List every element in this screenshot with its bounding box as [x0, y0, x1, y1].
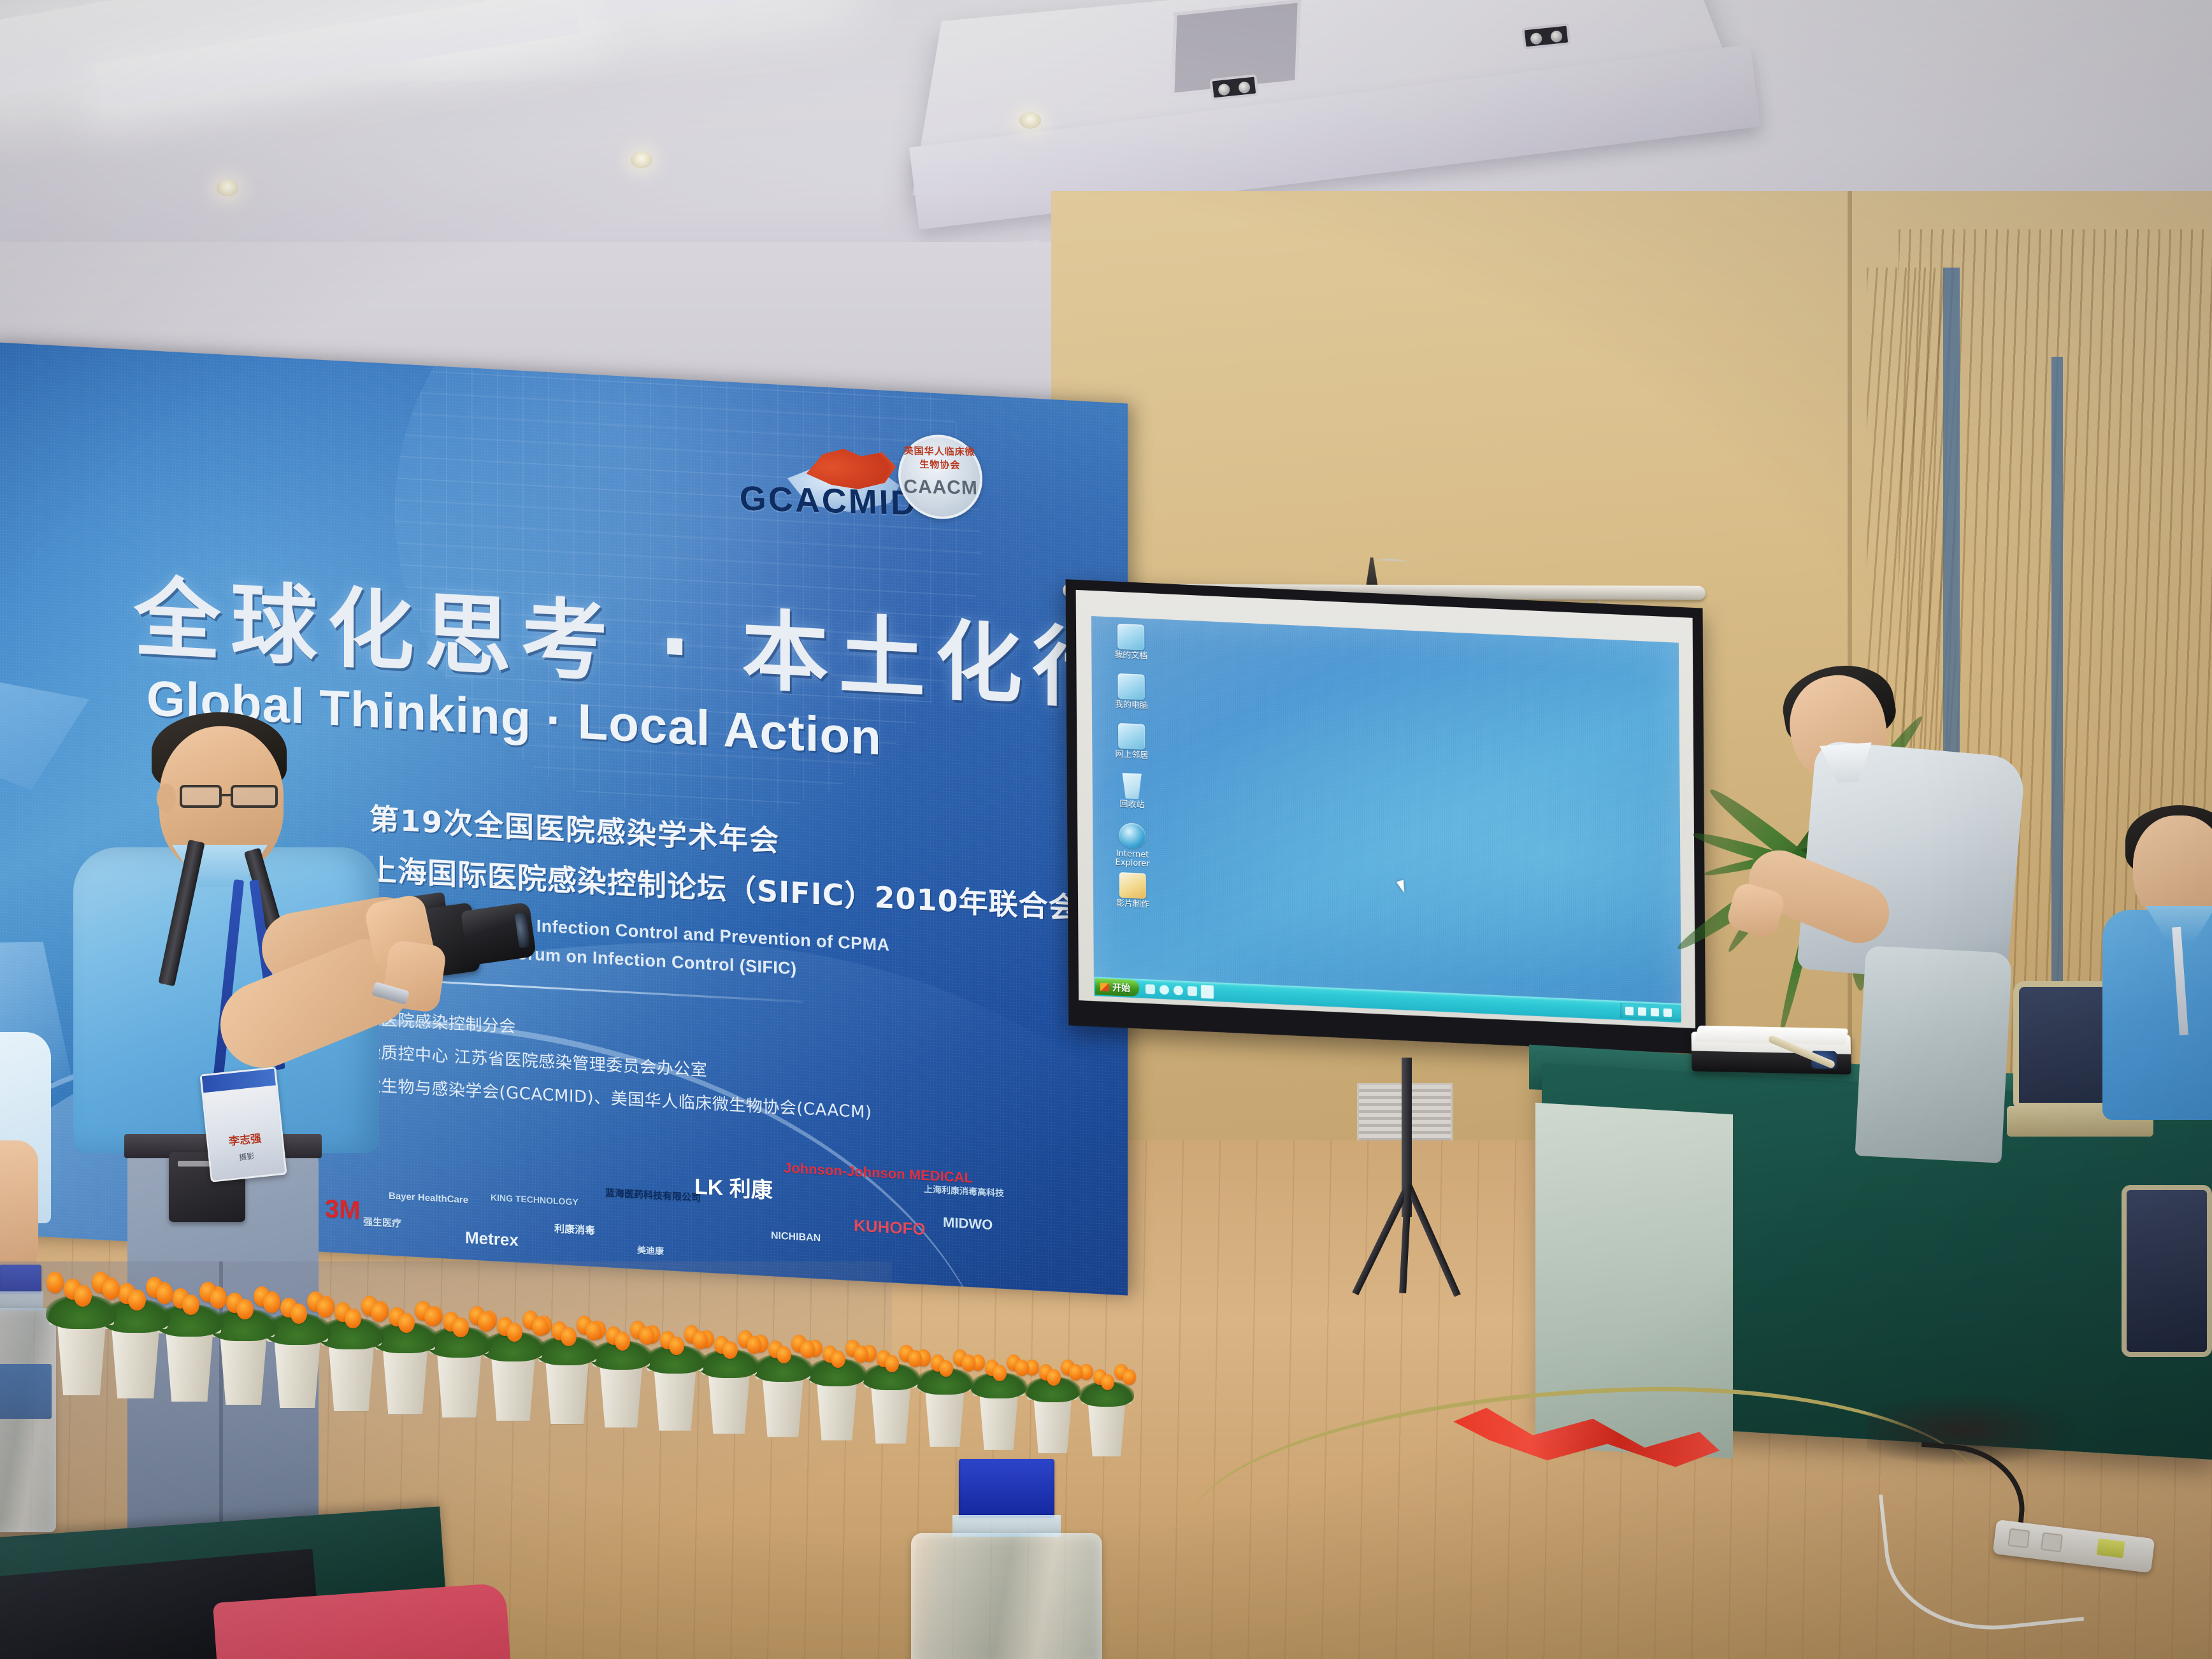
flower-icon — [693, 1331, 708, 1349]
pot-body — [974, 1392, 1023, 1450]
flower-icon — [156, 1283, 173, 1304]
person-seated — [2096, 815, 2212, 1147]
antivirus-icon[interactable] — [1663, 1008, 1672, 1017]
flower-icon — [478, 1312, 494, 1331]
pot-body — [1029, 1396, 1077, 1453]
flower-pot — [649, 1327, 701, 1430]
conference-hall-photo: GCACMID 美国华人临床微生物协会 CAACM 全球化思考 · 本土化行动 … — [0, 0, 2212, 1659]
movie-maker-icon — [1119, 872, 1146, 899]
flower-pot — [51, 1274, 112, 1395]
marigold-flowers — [861, 1343, 921, 1376]
ie-icon[interactable] — [1174, 985, 1183, 995]
flower-pot — [431, 1308, 487, 1418]
marigold-flowers — [698, 1328, 761, 1363]
marigold-flowers — [915, 1347, 974, 1380]
show-desktop-icon[interactable] — [1145, 984, 1155, 994]
projection-screen: 我的文档我的电脑网上邻居回收站Internet Explorer影片制作 开始 — [1065, 540, 1706, 1098]
flower-icon — [908, 1350, 923, 1367]
projector-noise — [1091, 616, 1681, 1023]
flower-icon — [345, 1309, 361, 1328]
flower-icon — [747, 1336, 762, 1354]
flower-pot — [1029, 1361, 1077, 1453]
flower-icon — [424, 1307, 441, 1327]
torso — [2102, 910, 2212, 1120]
sponsor-logo: 上海利康消毒高科技 — [924, 1182, 1004, 1200]
flower-icon — [291, 1303, 307, 1324]
flower-icon — [561, 1327, 577, 1346]
pot-body — [485, 1354, 541, 1421]
flower-icon — [263, 1293, 280, 1313]
glasses-icon — [180, 785, 287, 810]
flower-icon — [639, 1326, 654, 1345]
pot-body — [703, 1371, 755, 1434]
pot-body — [866, 1383, 916, 1443]
caacm-logo-text: CAACM — [901, 476, 980, 499]
flower-icon — [854, 1346, 868, 1363]
bottle-body — [911, 1533, 1102, 1659]
taskbar-window-button[interactable] — [1201, 984, 1214, 998]
bottle-cap — [959, 1459, 1054, 1518]
badge-name: 李志强 — [208, 1127, 282, 1151]
ear — [157, 784, 176, 813]
hand-right — [381, 939, 447, 1014]
marigold-flowers — [1079, 1362, 1135, 1393]
caacm-ring-text: 美国华人临床微生物协会 — [900, 443, 979, 471]
flower-icon — [722, 1341, 738, 1359]
speaker-cabinet — [2122, 1185, 2212, 1357]
pot-body — [105, 1325, 166, 1398]
flower-pot — [540, 1318, 594, 1424]
flower-icon — [993, 1365, 1007, 1381]
desktop-icon-my-computer[interactable]: 我的电脑 — [1101, 673, 1162, 712]
ime-icon[interactable] — [1625, 1007, 1634, 1016]
flower-icon — [1069, 1364, 1083, 1381]
flower-icon — [885, 1355, 900, 1372]
marigold-flowers — [970, 1353, 1028, 1384]
flower-icon — [128, 1289, 145, 1311]
pot-body — [594, 1362, 648, 1427]
desktop-icon-movie-maker[interactable]: 影片制作 — [1102, 872, 1163, 910]
volume-icon[interactable] — [1651, 1007, 1659, 1016]
network-icon[interactable] — [1638, 1007, 1646, 1016]
flower-pot — [866, 1347, 916, 1444]
marigold-flowers — [1024, 1358, 1081, 1389]
network-neighborhood-icon — [1118, 723, 1145, 750]
person-technician — [1771, 675, 2039, 1160]
flower-pot — [920, 1351, 969, 1447]
flower-icon — [47, 1272, 64, 1293]
flower-pot — [703, 1332, 755, 1434]
flower-icon — [831, 1351, 845, 1368]
desktop-icon-internet-explorer[interactable]: Internet Explorer — [1102, 822, 1163, 870]
flower-icon — [585, 1321, 601, 1340]
sponsor-logo: LK 利康 — [694, 1169, 773, 1205]
flower-icon — [1101, 1374, 1114, 1390]
pot-body — [1083, 1400, 1130, 1456]
power-switch-icon[interactable] — [2097, 1539, 2125, 1558]
conference-badge: 李志强 摄影 — [199, 1066, 287, 1182]
pot-body — [160, 1328, 220, 1402]
flower-icon — [102, 1279, 120, 1300]
sponsor-logo: 蓝海医药科技有限公司 — [605, 1186, 701, 1204]
flower-icon — [669, 1337, 684, 1355]
flower-pot — [812, 1342, 863, 1440]
socket-icon — [2041, 1532, 2063, 1553]
flower-icon — [210, 1288, 227, 1309]
arm — [0, 1140, 38, 1268]
downlight-icon — [1019, 112, 1041, 129]
pot-body — [322, 1341, 380, 1411]
my-computer-icon — [1118, 673, 1145, 700]
screen-surface: 我的文档我的电脑网上邻居回收站Internet Explorer影片制作 开始 — [1076, 590, 1695, 1028]
pot-body — [920, 1388, 969, 1447]
windows-flag-icon — [1100, 982, 1109, 991]
flower-icon — [236, 1299, 254, 1319]
internet-explorer-icon — [1119, 822, 1145, 849]
flower-icon — [506, 1323, 522, 1342]
flower-icon — [939, 1360, 953, 1377]
flower-icon — [74, 1285, 92, 1307]
camera-lens-icon — [461, 902, 536, 966]
marigold-flowers — [752, 1333, 814, 1367]
flower-pot — [1083, 1366, 1130, 1456]
flower-pot — [757, 1337, 808, 1437]
more-icon[interactable] — [1188, 986, 1197, 996]
desktop-icon-my-documents[interactable]: 我的文档 — [1100, 623, 1161, 662]
flower-icon — [777, 1346, 791, 1364]
pot-body — [51, 1320, 112, 1395]
downlight-icon — [217, 180, 238, 196]
desktop-icon-label: Internet Explorer — [1102, 849, 1163, 870]
desktop-icon-recycle-bin[interactable]: 回收站 — [1102, 772, 1163, 811]
flower-icon — [1015, 1360, 1029, 1376]
pot-body — [540, 1358, 594, 1425]
flower-icon — [1123, 1369, 1136, 1385]
recycle-bin-icon — [1119, 773, 1145, 800]
pot-body — [268, 1337, 326, 1409]
flower-icon — [182, 1295, 199, 1316]
pot-body — [431, 1350, 487, 1418]
downlight-icon — [631, 152, 652, 168]
flower-icon — [532, 1317, 548, 1336]
flower-icon — [1047, 1369, 1061, 1386]
socket-icon — [2007, 1528, 2030, 1549]
pot-body — [757, 1375, 808, 1437]
marigold-flowers — [45, 1269, 118, 1311]
trousers — [1855, 945, 2013, 1163]
media-player-icon[interactable] — [1160, 984, 1169, 995]
desktop-icon-network-neighborhood[interactable]: 网上邻居 — [1101, 722, 1162, 761]
projected-desktop: 我的文档我的电脑网上邻居回收站Internet Explorer影片制作 开始 — [1091, 616, 1681, 1023]
flower-icon — [371, 1302, 387, 1322]
flower-pot — [485, 1313, 541, 1421]
badge-role: 摄影 — [210, 1147, 284, 1166]
start-button-label: 开始 — [1112, 981, 1130, 995]
glasses-lens-right — [231, 785, 278, 808]
pot-body — [214, 1333, 273, 1405]
flower-icon — [317, 1298, 333, 1318]
flower-icon — [615, 1332, 630, 1350]
flower-icon — [961, 1354, 975, 1371]
flower-icon — [452, 1318, 468, 1337]
system-tray[interactable] — [1620, 1003, 1681, 1021]
start-button[interactable]: 开始 — [1095, 978, 1139, 996]
quick-launch-bar[interactable] — [1145, 984, 1197, 996]
my-documents-icon — [1117, 624, 1144, 650]
water-bottle-front — [911, 1459, 1102, 1659]
flower-icon — [398, 1313, 415, 1333]
glasses-lens-left — [180, 785, 222, 808]
screen-frame: 我的文档我的电脑网上邻居回收站Internet Explorer影片制作 开始 — [1066, 579, 1706, 1054]
pot-body — [812, 1379, 863, 1440]
pot-body — [377, 1346, 434, 1414]
flower-pot — [974, 1356, 1023, 1450]
pot-body — [649, 1367, 701, 1431]
flower-pot — [594, 1323, 648, 1428]
flower-icon — [800, 1340, 815, 1358]
marigold-flowers — [807, 1338, 868, 1372]
